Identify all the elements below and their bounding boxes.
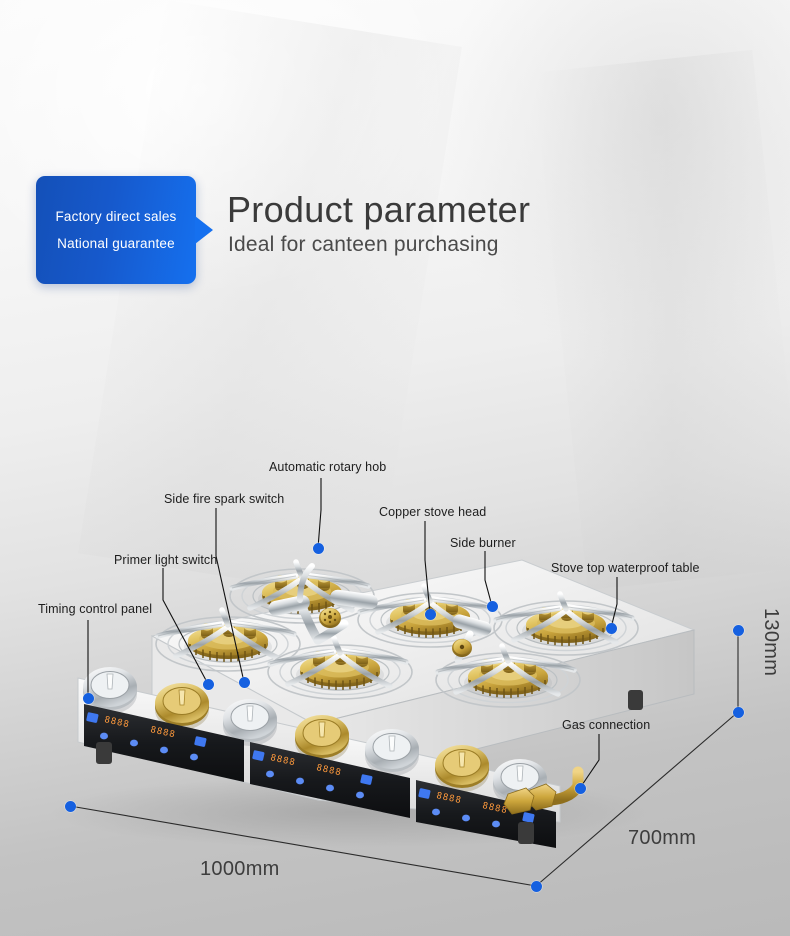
callout-dot-side-fire-spark-switch <box>239 677 250 688</box>
callout-label-side-fire-spark-switch: Side fire spark switch <box>164 492 284 506</box>
callout-label-gas-connection: Gas connection <box>562 718 650 732</box>
callout-label-stove-top-waterproof-table: Stove top waterproof table <box>551 561 700 575</box>
callout-label-timing-control-panel: Timing control panel <box>38 602 152 616</box>
dimension-label-height: 130mm <box>759 608 782 676</box>
gas-range-illustration: 8888 8888 8888 8888 8888 8888 <box>0 0 790 936</box>
dimension-dot-height-top <box>733 625 744 636</box>
callout-label-copper-stove-head: Copper stove head <box>379 505 486 519</box>
callout-dot-stove-top-waterproof-table <box>606 623 617 634</box>
callout-dot-gas-connection <box>575 783 586 794</box>
callout-label-automatic-rotary-hob: Automatic rotary hob <box>269 460 386 474</box>
callout-dot-timing-control-panel <box>83 693 94 704</box>
dimension-dot-depth-end <box>733 707 744 718</box>
dimension-dot-width-start <box>65 801 76 812</box>
product-parameter-infographic: Factory direct sales National guarantee … <box>0 0 790 936</box>
callout-label-side-burner: Side burner <box>450 536 516 550</box>
callout-dot-side-burner <box>487 601 498 612</box>
callout-dot-primer-light-switch <box>203 679 214 690</box>
callout-label-primer-light-switch: Primer light switch <box>114 553 217 567</box>
dimension-label-depth: 700mm <box>628 827 696 850</box>
dimension-dot-width-end <box>531 881 542 892</box>
callout-dot-automatic-rotary-hob <box>313 543 324 554</box>
callout-dot-copper-stove-head <box>425 609 436 620</box>
dimension-label-width: 1000mm <box>200 858 280 881</box>
